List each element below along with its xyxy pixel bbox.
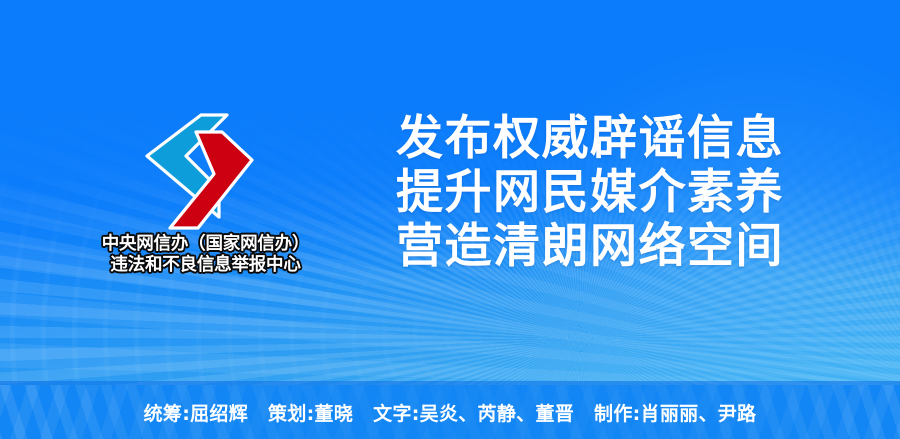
credit-role-1: 策划: (268, 403, 315, 425)
credit-names-0: 屈绍辉 (190, 403, 248, 425)
logo-caption: 中央网信办（国家网信办） 违法和不良信息举报中心 (78, 234, 333, 276)
headline-line-1: 发布权威辟谣信息 (396, 112, 784, 166)
credit-names-2: 吴炎、芮静、董晋 (420, 403, 574, 425)
credit-role-3: 制作: (594, 403, 641, 425)
headline-line-2: 提升网民媒介素养 (396, 166, 784, 220)
poster-banner: 中央网信办（国家网信办） 违法和不良信息举报中心 发布权威辟谣信息 提升网民媒介… (0, 0, 900, 439)
headline-line-3: 营造清朗网络空间 (396, 220, 784, 274)
credit-item-3: 制作:肖丽丽、尹路 (594, 399, 756, 426)
credit-item-0: 统筹:屈绍辉 (144, 399, 248, 426)
credit-role-0: 统筹: (144, 403, 191, 425)
credit-names-3: 肖丽丽、尹路 (641, 403, 757, 425)
headline: 发布权威辟谣信息 提升网民媒介素养 营造清朗网络空间 (396, 112, 784, 274)
logo-block: 中央网信办（国家网信办） 违法和不良信息举报中心 (78, 112, 333, 282)
logo-caption-line-2: 违法和不良信息举报中心 (78, 255, 333, 276)
credit-names-1: 董晓 (315, 403, 354, 425)
logo-caption-line-1: 中央网信办（国家网信办） (78, 234, 333, 255)
credits-bar: 统筹:屈绍辉 策划:董晓 文字:吴炎、芮静、董晋 制作:肖丽丽、尹路 (0, 385, 900, 439)
credit-item-1: 策划:董晓 (268, 399, 353, 426)
cyberspace-administration-emblem-icon (138, 112, 258, 230)
credit-item-2: 文字:吴炎、芮静、董晋 (373, 399, 574, 426)
credits-text: 统筹:屈绍辉 策划:董晓 文字:吴炎、芮静、董晋 制作:肖丽丽、尹路 (144, 399, 757, 426)
credit-role-2: 文字: (373, 403, 420, 425)
